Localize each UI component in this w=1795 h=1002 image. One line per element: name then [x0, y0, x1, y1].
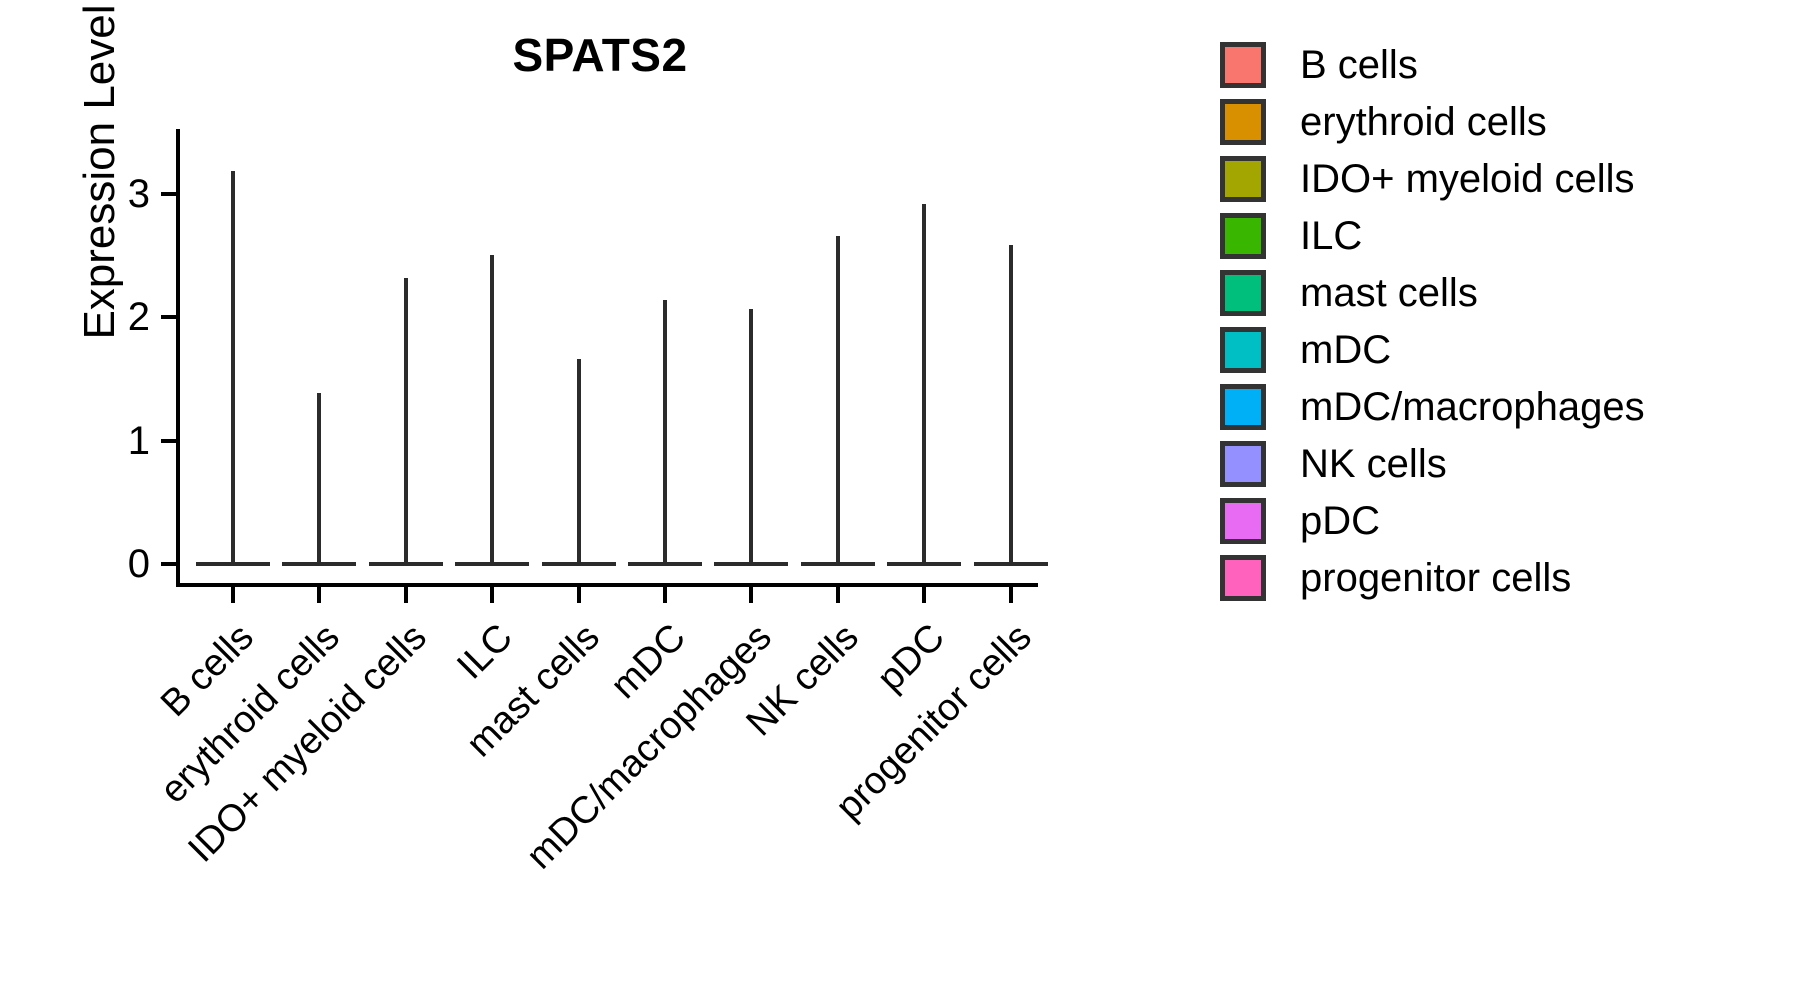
legend-item[interactable]: mDC [1220, 321, 1645, 378]
violin-base [974, 562, 1048, 566]
legend-item-label: NK cells [1300, 444, 1447, 484]
legend-swatch-icon [1220, 156, 1266, 202]
violin-base [282, 562, 356, 566]
legend-swatch-icon [1220, 555, 1266, 601]
x-axis-line [176, 583, 1038, 587]
y-axis-line [176, 129, 180, 587]
x-axis-tick [231, 587, 235, 603]
x-axis-tick [1009, 587, 1013, 603]
x-axis-tick [663, 587, 667, 603]
legend-item[interactable]: progenitor cells [1220, 549, 1645, 606]
legend-swatch-icon [1220, 327, 1266, 373]
violin-spike [490, 255, 494, 564]
violin-spike [922, 204, 926, 564]
y-axis-tick-label: 1 [100, 421, 150, 461]
y-axis-tick-label: 0 [100, 544, 150, 584]
page-title: SPATS2 [160, 32, 1040, 78]
x-axis-tick [490, 587, 494, 603]
x-axis-tick [577, 587, 581, 603]
violin-spike [577, 359, 581, 564]
legend-item-label: erythroid cells [1300, 102, 1547, 142]
legend-item-label: ILC [1300, 216, 1362, 256]
legend-item[interactable]: ILC [1220, 207, 1645, 264]
violin-spike [231, 171, 235, 564]
legend-item-label: mDC [1300, 330, 1391, 370]
legend-item-label: mDC/macrophages [1300, 387, 1645, 427]
y-axis-tick-label: 3 [100, 174, 150, 214]
legend-item[interactable]: B cells [1220, 36, 1645, 93]
x-axis-tick [922, 587, 926, 603]
legend-swatch-icon [1220, 42, 1266, 88]
legend-swatch-icon [1220, 213, 1266, 259]
violin-spike [317, 393, 321, 564]
legend-item[interactable]: IDO+ myeloid cells [1220, 150, 1645, 207]
legend-item[interactable]: mDC/macrophages [1220, 378, 1645, 435]
violin-spike [1009, 245, 1013, 564]
violin-base [455, 562, 529, 566]
y-axis-tick [161, 192, 177, 196]
legend-item[interactable]: mast cells [1220, 264, 1645, 321]
legend-item-label: pDC [1300, 501, 1380, 541]
y-axis-tick-label: 2 [100, 297, 150, 337]
violin-spike [663, 300, 667, 564]
violin-base [887, 562, 961, 566]
legend-item-label: B cells [1300, 45, 1418, 85]
violin-base [369, 562, 443, 566]
legend-swatch-icon [1220, 498, 1266, 544]
legend-swatch-icon [1220, 99, 1266, 145]
violin-plot-figure: SPATS2 Expression Level 0123 B cellseryt… [0, 0, 1795, 1002]
legend-swatch-icon [1220, 441, 1266, 487]
legend-item[interactable]: NK cells [1220, 435, 1645, 492]
y-axis-tick [161, 439, 177, 443]
violin-spike [836, 236, 840, 564]
legend-item-label: mast cells [1300, 273, 1478, 313]
legend-swatch-icon [1220, 270, 1266, 316]
violin-base [542, 562, 616, 566]
violin-base [196, 562, 270, 566]
legend-item[interactable]: pDC [1220, 492, 1645, 549]
violin-base [801, 562, 875, 566]
legend-item[interactable]: erythroid cells [1220, 93, 1645, 150]
legend-item-label: IDO+ myeloid cells [1300, 159, 1635, 199]
legend: B cellserythroid cellsIDO+ myeloid cells… [1220, 36, 1645, 606]
y-axis-tick [161, 562, 177, 566]
legend-swatch-icon [1220, 384, 1266, 430]
legend-item-label: progenitor cells [1300, 558, 1571, 598]
violin-base [714, 562, 788, 566]
violin-spike [404, 278, 408, 564]
x-axis-tick [404, 587, 408, 603]
x-axis-tick [749, 587, 753, 603]
x-axis-tick [317, 587, 321, 603]
x-axis-tick [836, 587, 840, 603]
violin-base [628, 562, 702, 566]
violin-spike [749, 309, 753, 564]
y-axis-tick [161, 315, 177, 319]
